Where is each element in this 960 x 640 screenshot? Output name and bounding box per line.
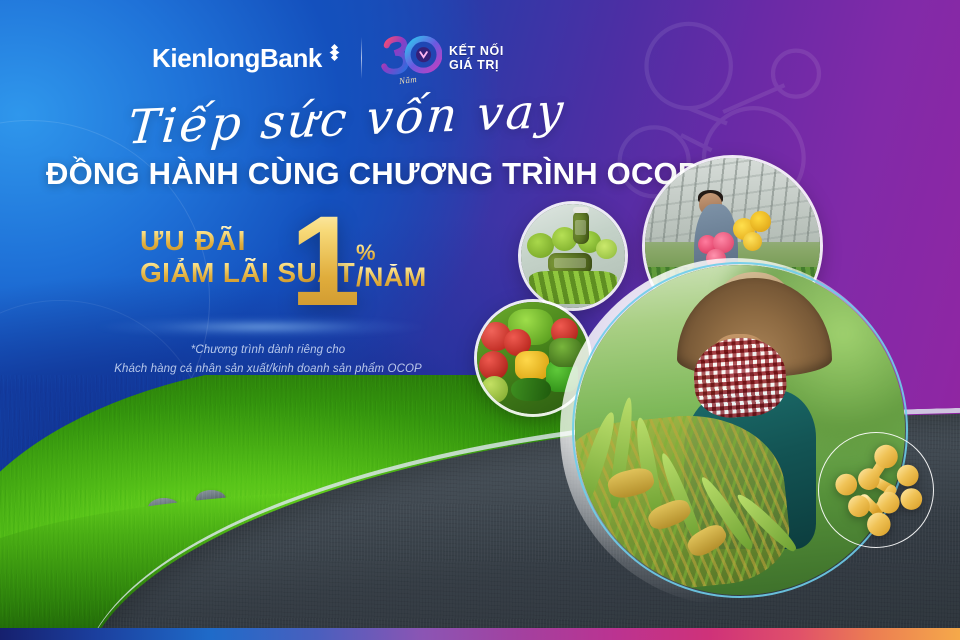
anniversary-logo[interactable]: Năm KẾT NỐI GIÁ TRỊ (380, 34, 504, 82)
ocop-molecule-network-icon (831, 443, 923, 537)
bank-name: KienlongBank (152, 41, 322, 75)
kienlongbank-diamond-s-icon (326, 44, 343, 61)
brand-header: KienlongBank (152, 30, 504, 86)
offer-glow (96, 316, 426, 338)
kienlongbank-logo[interactable]: KienlongBank (152, 41, 343, 75)
offer-per-year: /NĂM (356, 264, 427, 292)
offer-unit-group: % /NĂM (356, 242, 427, 292)
anniversary-tagline-line1: KẾT NỐI (449, 45, 504, 58)
fineprint: *Chương trình dành riêng cho Khách hàng … (66, 341, 470, 379)
fresh-vegetables-photo (477, 302, 589, 414)
ocop-molecule-badge (818, 432, 934, 548)
anniversary-unit: Năm (398, 74, 417, 86)
anniversary-tagline: KẾT NỐI GIÁ TRỊ (449, 45, 504, 71)
offer-block: ƯU ĐÃI GIẢM LÃI SUẤT 1 % /NĂM (118, 212, 468, 324)
bottom-color-strip (0, 628, 960, 640)
kienlongbank-ocop-promo-banner: KienlongBank (0, 0, 960, 640)
offer-rate-number: 1 (290, 198, 357, 326)
anniversary-tagline-line2: GIÁ TRỊ (449, 59, 504, 72)
fineprint-line1: *Chương trình dành riêng cho (66, 341, 470, 360)
page-title: ĐỒNG HÀNH CÙNG CHƯƠNG TRÌNH OCOP (46, 156, 699, 192)
logo-divider (361, 37, 362, 79)
anniversary-30-icon: Năm (380, 34, 442, 82)
